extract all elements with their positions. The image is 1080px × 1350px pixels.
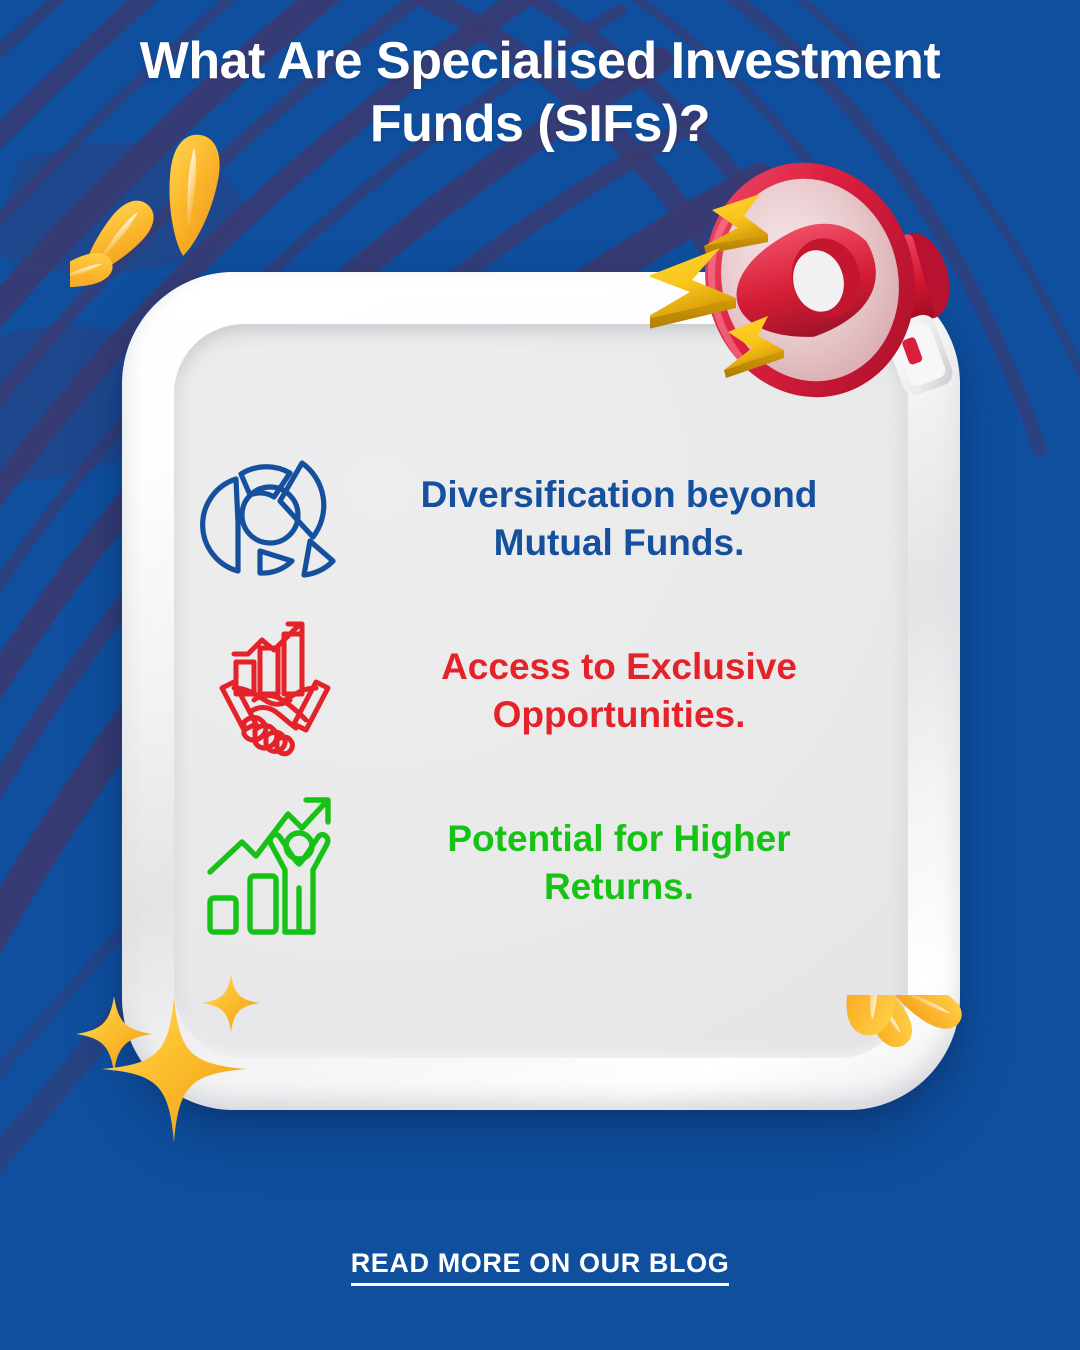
card-face: Diversification beyond Mutual Funds. <box>174 324 908 1058</box>
benefit-label: Potential for Higher Returns. <box>376 815 868 911</box>
benefits-card: Diversification beyond Mutual Funds. <box>122 272 960 1110</box>
benefit-label: Access to Exclusive Opportunities. <box>376 643 868 739</box>
benefit-label: Diversification beyond Mutual Funds. <box>376 471 868 567</box>
page-title: What Are Specialised Investment Funds (S… <box>90 30 990 157</box>
benefit-item: Diversification beyond Mutual Funds. <box>200 444 868 594</box>
benefit-item: Potential for Higher Returns. <box>200 788 868 938</box>
benefit-item: Access to Exclusive Opportunities. <box>200 616 868 766</box>
card-bezel: Diversification beyond Mutual Funds. <box>122 272 960 1110</box>
footer-cta: READ MORE ON OUR BLOG <box>0 1248 1080 1286</box>
person-growth-bars-icon <box>200 788 350 938</box>
exploded-pie-chart-icon <box>200 444 350 594</box>
poster-canvas: What Are Specialised Investment Funds (S… <box>0 0 1080 1350</box>
read-more-link[interactable]: READ MORE ON OUR BLOG <box>351 1248 730 1286</box>
handshake-growth-icon <box>200 616 350 766</box>
